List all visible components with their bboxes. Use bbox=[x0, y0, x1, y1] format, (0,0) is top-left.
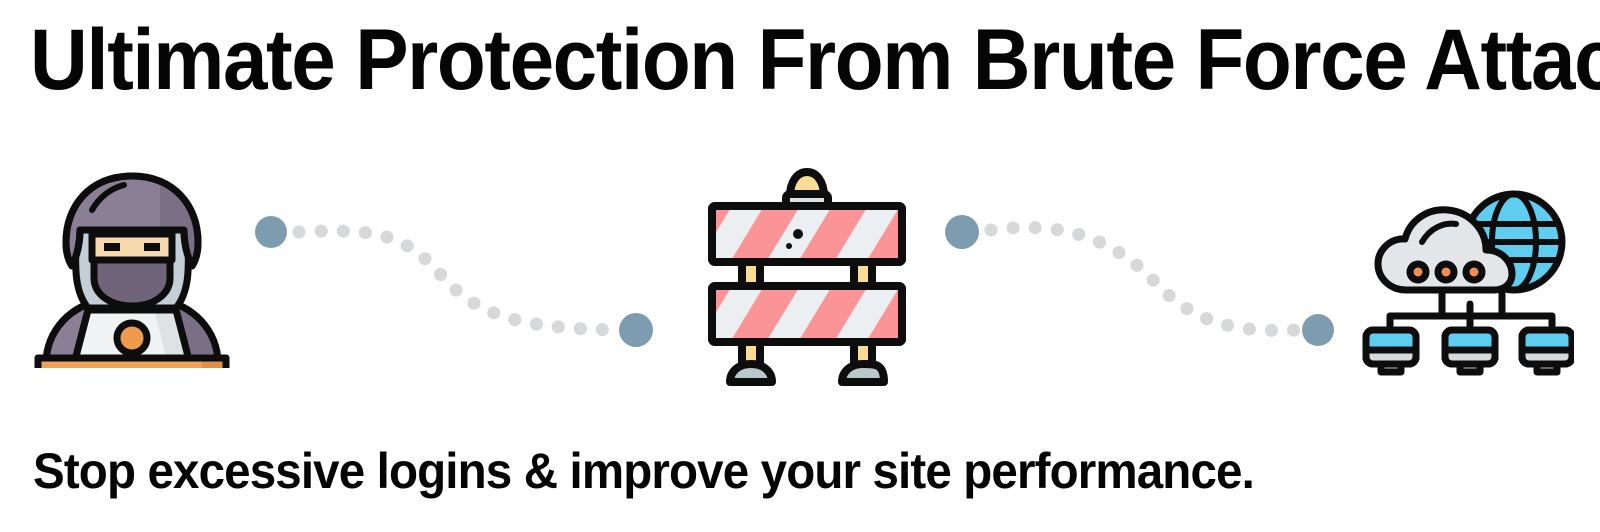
page-title: Ultimate Protection From Brute Force Att… bbox=[30, 12, 1467, 108]
promo-banner: Ultimate Protection From Brute Force Att… bbox=[0, 0, 1600, 532]
connector-end-dot bbox=[619, 313, 653, 347]
connector-dotted-path bbox=[299, 231, 615, 330]
road-barrier-icon bbox=[702, 164, 912, 390]
connector-hacker-to-barrier bbox=[255, 212, 655, 347]
hacker-icon bbox=[32, 168, 232, 368]
connector-start-dot bbox=[945, 215, 979, 249]
connector-end-dot bbox=[1302, 314, 1334, 346]
cloud-server-network-icon bbox=[1362, 186, 1574, 376]
connector-start-dot bbox=[255, 216, 287, 248]
connector-barrier-to-servers bbox=[945, 212, 1335, 347]
page-subtitle: Stop excessive logins & improve your sit… bbox=[33, 440, 1363, 502]
illustration-strip bbox=[0, 150, 1600, 400]
connector-dotted-path bbox=[991, 227, 1297, 330]
